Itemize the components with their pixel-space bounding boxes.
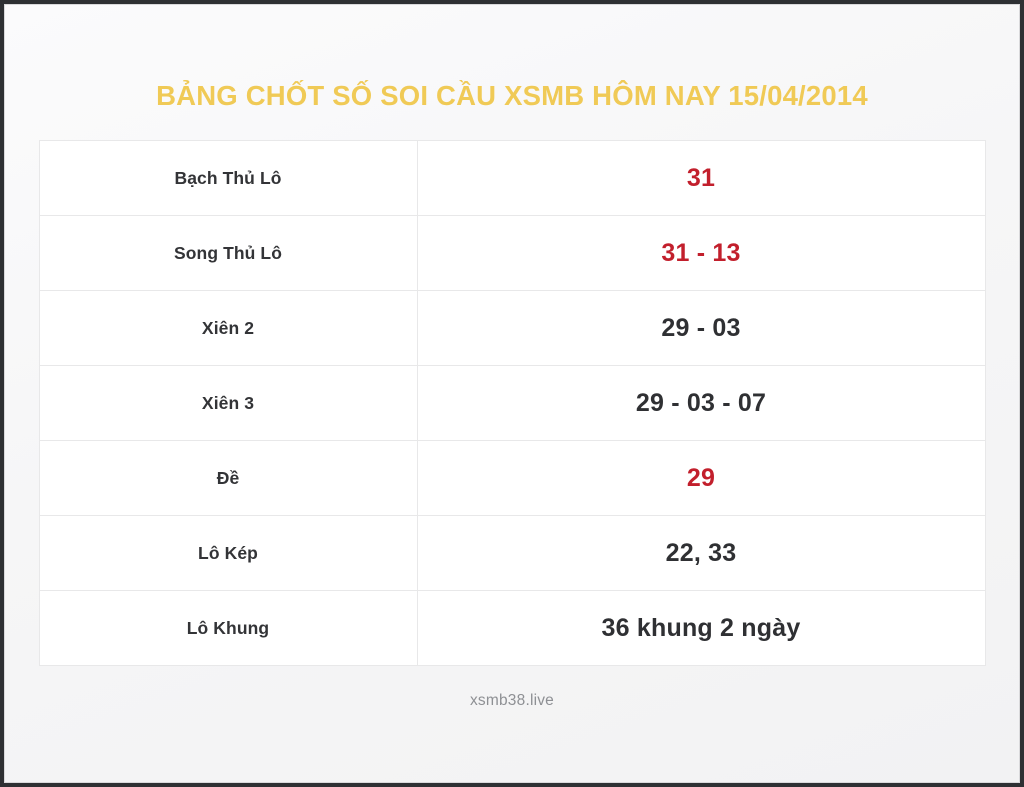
row-label: Đề — [39, 441, 417, 516]
table-row: Song Thủ Lô31 - 13 — [39, 216, 985, 291]
row-value: 22, 33 — [417, 516, 985, 591]
table-row: Xiên 229 - 03 — [39, 291, 985, 366]
row-value-highlight: 31 — [417, 141, 985, 216]
table-row: Đề29 — [39, 441, 985, 516]
site-watermark: xsmb38.live — [470, 692, 554, 710]
table-row: Lô Kép22, 33 — [39, 516, 985, 591]
prediction-table: Bạch Thủ Lô31Song Thủ Lô31 - 13Xiên 229 … — [39, 140, 986, 666]
row-label: Bạch Thủ Lô — [39, 141, 417, 216]
row-value-highlight: 31 - 13 — [417, 216, 985, 291]
row-value-highlight: 29 — [417, 441, 985, 516]
table-row: Xiên 329 - 03 - 07 — [39, 366, 985, 441]
row-value: 29 - 03 — [417, 291, 985, 366]
prediction-table-container: Bạch Thủ Lô31Song Thủ Lô31 - 13Xiên 229 … — [39, 140, 986, 666]
table-row: Lô Khung36 khung 2 ngày — [39, 591, 985, 666]
prediction-board-page: BẢNG CHỐT SỐ SOI CẦU XSMB HÔM NAY 15/04/… — [5, 5, 1019, 782]
table-row: Bạch Thủ Lô31 — [39, 141, 985, 216]
row-label: Lô Khung — [39, 591, 417, 666]
row-label: Song Thủ Lô — [39, 216, 417, 291]
row-value: 29 - 03 - 07 — [417, 366, 985, 441]
prediction-table-body: Bạch Thủ Lô31Song Thủ Lô31 - 13Xiên 229 … — [39, 141, 985, 666]
page-title: BẢNG CHỐT SỐ SOI CẦU XSMB HÔM NAY 15/04/… — [156, 81, 868, 111]
row-value: 36 khung 2 ngày — [417, 591, 985, 666]
row-label: Lô Kép — [39, 516, 417, 591]
image-frame: BẢNG CHỐT SỐ SOI CẦU XSMB HÔM NAY 15/04/… — [4, 4, 1020, 783]
row-label: Xiên 3 — [39, 366, 417, 441]
row-label: Xiên 2 — [39, 291, 417, 366]
